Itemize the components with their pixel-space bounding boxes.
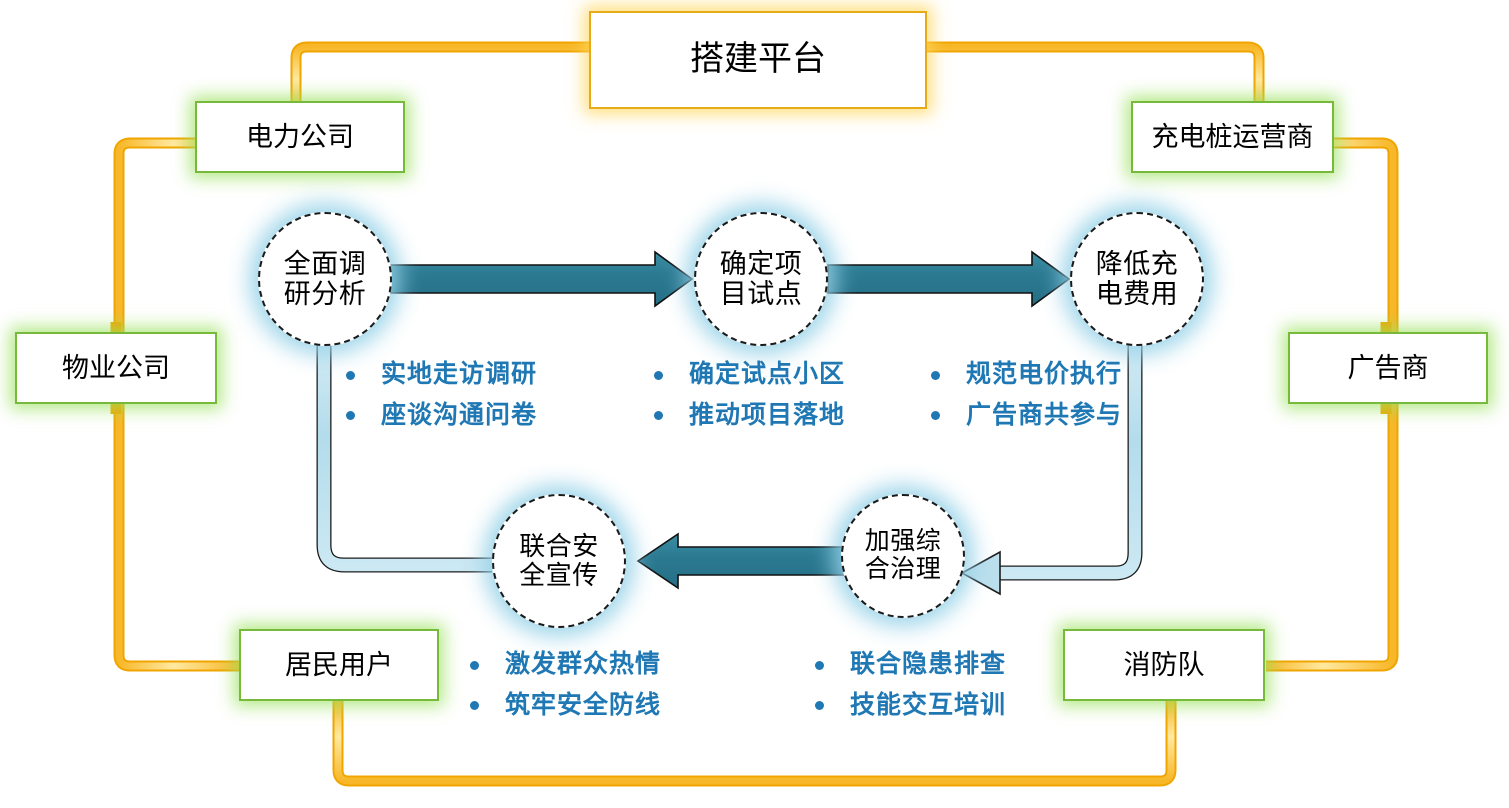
bullet-item: 确定试点小区 [654, 355, 845, 396]
arrow-pilot-to-reducefee [828, 252, 1069, 306]
step-circle-joint-safety-promotion[interactable]: 联合安全宣传 [492, 494, 626, 628]
bullet-item: 实地走访调研 [346, 355, 537, 396]
stakeholder-property-company-label: 物业公司 [62, 355, 170, 382]
bullet-dot-icon [815, 701, 824, 710]
stakeholder-advertiser-label: 广告商 [1348, 355, 1429, 382]
stakeholder-property-company[interactable]: 物业公司 [15, 332, 217, 404]
bullet-dot-icon [654, 411, 663, 420]
bullet-label: 确定试点小区 [689, 355, 845, 396]
stakeholder-charging-operator[interactable]: 充电桩运营商 [1131, 101, 1334, 173]
stakeholder-power-company[interactable]: 电力公司 [195, 101, 405, 173]
step-circle-joint-safety-promotion-label: 联合安全宣传 [519, 532, 599, 590]
stakeholder-advertiser[interactable]: 广告商 [1288, 332, 1488, 404]
step-circle-reduce-charging-fee-label: 降低充电费用 [1096, 249, 1179, 309]
bullet-label: 筑牢安全防线 [505, 686, 661, 727]
bullet-label: 联合隐患排查 [850, 645, 1006, 686]
bullets-reduce-charging-fee: 规范电价执行 广告商共参与 [931, 355, 1122, 436]
bullet-item: 技能交互培训 [815, 686, 1006, 727]
bullet-item: 广告商共参与 [931, 396, 1122, 437]
bullet-label: 广告商共参与 [966, 396, 1122, 437]
bullet-item: 推动项目落地 [654, 396, 845, 437]
stakeholder-fire-brigade-label: 消防队 [1124, 652, 1205, 679]
bullet-dot-icon [470, 661, 479, 670]
bullet-item: 座谈沟通问卷 [346, 396, 537, 437]
bullet-label: 实地走访调研 [381, 355, 537, 396]
stakeholder-residents[interactable]: 居民用户 [239, 629, 439, 701]
bullet-item: 规范电价执行 [931, 355, 1122, 396]
arrow-survey-to-pilot [386, 252, 692, 306]
bullet-label: 规范电价执行 [966, 355, 1122, 396]
stakeholder-charging-operator-label: 充电桩运营商 [1152, 124, 1314, 151]
bullet-label: 激发群众热情 [505, 645, 661, 686]
diagram-canvas: 搭建平台 电力公司 充电桩运营商 物业公司 广告商 居民用户 消防队 全面调研分… [0, 0, 1509, 808]
platform-title-label: 搭建平台 [690, 43, 826, 77]
bullet-dot-icon [931, 411, 940, 420]
bullet-dot-icon [654, 371, 663, 380]
bullet-item: 联合隐患排查 [815, 645, 1006, 686]
bullet-label: 座谈沟通问卷 [381, 396, 537, 437]
bullet-item: 筑牢安全防线 [470, 686, 661, 727]
bullet-item: 激发群众热情 [470, 645, 661, 686]
bullet-dot-icon [470, 701, 479, 710]
stakeholder-residents-label: 居民用户 [285, 652, 393, 679]
step-circle-reduce-charging-fee[interactable]: 降低充电费用 [1070, 212, 1204, 346]
bullet-label: 推动项目落地 [689, 396, 845, 437]
step-circle-pilot-project[interactable]: 确定项目试点 [694, 212, 828, 346]
step-circle-survey-analysis[interactable]: 全面调研分析 [258, 212, 392, 346]
bullet-dot-icon [931, 371, 940, 380]
step-circle-comprehensive-governance[interactable]: 加强综合治理 [841, 494, 965, 618]
step-circle-survey-analysis-label: 全面调研分析 [284, 249, 367, 309]
bullets-comprehensive-governance: 联合隐患排查 技能交互培训 [815, 645, 1006, 726]
bullet-dot-icon [815, 661, 824, 670]
step-circle-comprehensive-governance-label: 加强综合治理 [865, 528, 942, 584]
bullet-dot-icon [346, 371, 355, 380]
stakeholder-power-company-label: 电力公司 [246, 124, 354, 151]
platform-title-box[interactable]: 搭建平台 [589, 11, 927, 109]
stakeholder-fire-brigade[interactable]: 消防队 [1063, 629, 1265, 701]
bullets-survey-analysis: 实地走访调研 座谈沟通问卷 [346, 355, 537, 436]
bullet-label: 技能交互培训 [850, 686, 1006, 727]
arrow-governance-to-safety [638, 534, 860, 588]
bullet-dot-icon [346, 411, 355, 420]
bullets-joint-safety-promotion: 激发群众热情 筑牢安全防线 [470, 645, 661, 726]
bullets-pilot-project: 确定试点小区 推动项目落地 [654, 355, 845, 436]
step-circle-pilot-project-label: 确定项目试点 [720, 249, 803, 309]
